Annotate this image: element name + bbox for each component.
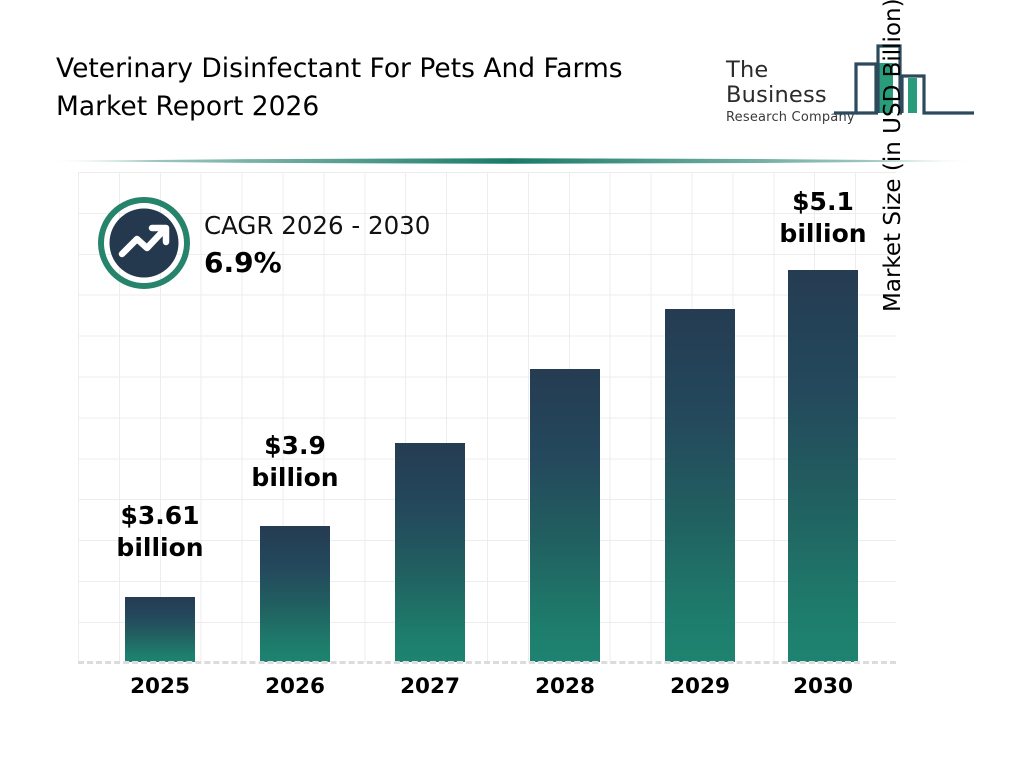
xtick-2030: 2030 [753,674,893,699]
page-title-line-1: Veterinary Disinfectant For Pets And Far… [56,50,716,88]
header: Veterinary Disinfectant For Pets And Far… [0,0,1024,150]
bar-label-2026: $3.9 billion [225,430,365,494]
cagr-value-label: 6.9% [204,244,484,282]
bar-label-2030-unit: billion [753,218,893,250]
page-title-line-2: Market Report 2026 [56,88,716,126]
trending-up-arrow-icon [98,197,190,289]
y-axis-label: Market Size (in USD Billion) [880,0,920,312]
xtick-2026: 2026 [225,674,365,699]
x-axis-ticks: 2025 2026 2027 2028 2029 2030 [78,674,896,714]
bar-label-2026-unit: billion [225,462,365,494]
cagr-badge: CAGR 2026 - 2030 6.9% [98,197,478,307]
xtick-2028: 2028 [495,674,635,699]
bar-2025[interactable] [125,597,195,662]
bar-label-2025-unit: billion [90,532,230,564]
company-logo: The Business Research Company [726,36,976,128]
bar-label-2025-value: $3.61 [90,500,230,532]
bar-2030[interactable] [788,270,858,662]
xtick-2025: 2025 [90,674,230,699]
bar-2029[interactable] [665,309,735,662]
bar-label-2026-value: $3.9 [225,430,365,462]
bar-label-2025: $3.61 billion [90,500,230,564]
cagr-text: CAGR 2026 - 2030 6.9% [204,210,484,282]
xtick-2027: 2027 [360,674,500,699]
page-title: Veterinary Disinfectant For Pets And Far… [56,50,716,126]
axis-baseline [78,661,896,664]
chart-page: Veterinary Disinfectant For Pets And Far… [0,0,1024,768]
bar-2026[interactable] [260,526,330,662]
bar-label-2030: $5.1 billion [753,186,893,250]
bar-label-2030-value: $5.1 [753,186,893,218]
cagr-range-label: CAGR 2026 - 2030 [204,210,484,242]
bar-2028[interactable] [530,369,600,662]
header-divider [46,158,976,164]
bar-2027[interactable] [395,443,465,662]
xtick-2029: 2029 [630,674,770,699]
